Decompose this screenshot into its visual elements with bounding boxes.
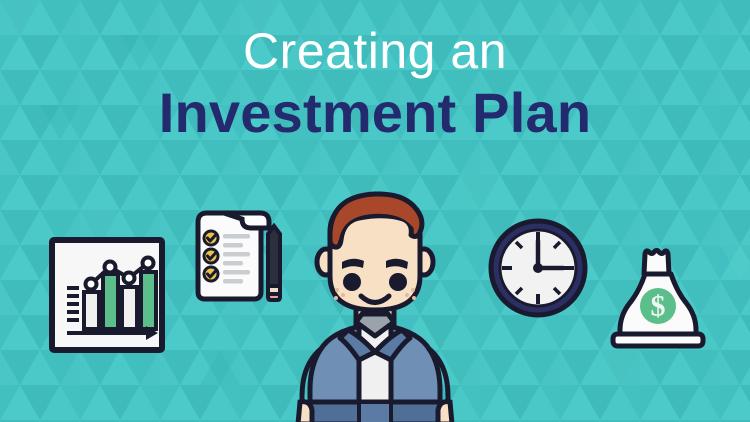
bar-chart-growth-icon [48,236,166,354]
title-line-2: Investment Plan [0,82,750,144]
money-bag-dollar-icon: $ [608,246,708,350]
wall-clock-icon [484,214,592,322]
pencil-icon [268,226,280,300]
checklist-document-pencil-icon [188,206,288,306]
businessman-illustration [286,188,464,422]
slide-canvas: Creating an Investment Plan [0,0,750,422]
title-block: Creating an Investment Plan [0,22,750,144]
dollar-sign-label: $ [651,290,666,323]
title-line-1: Creating an [0,22,750,80]
